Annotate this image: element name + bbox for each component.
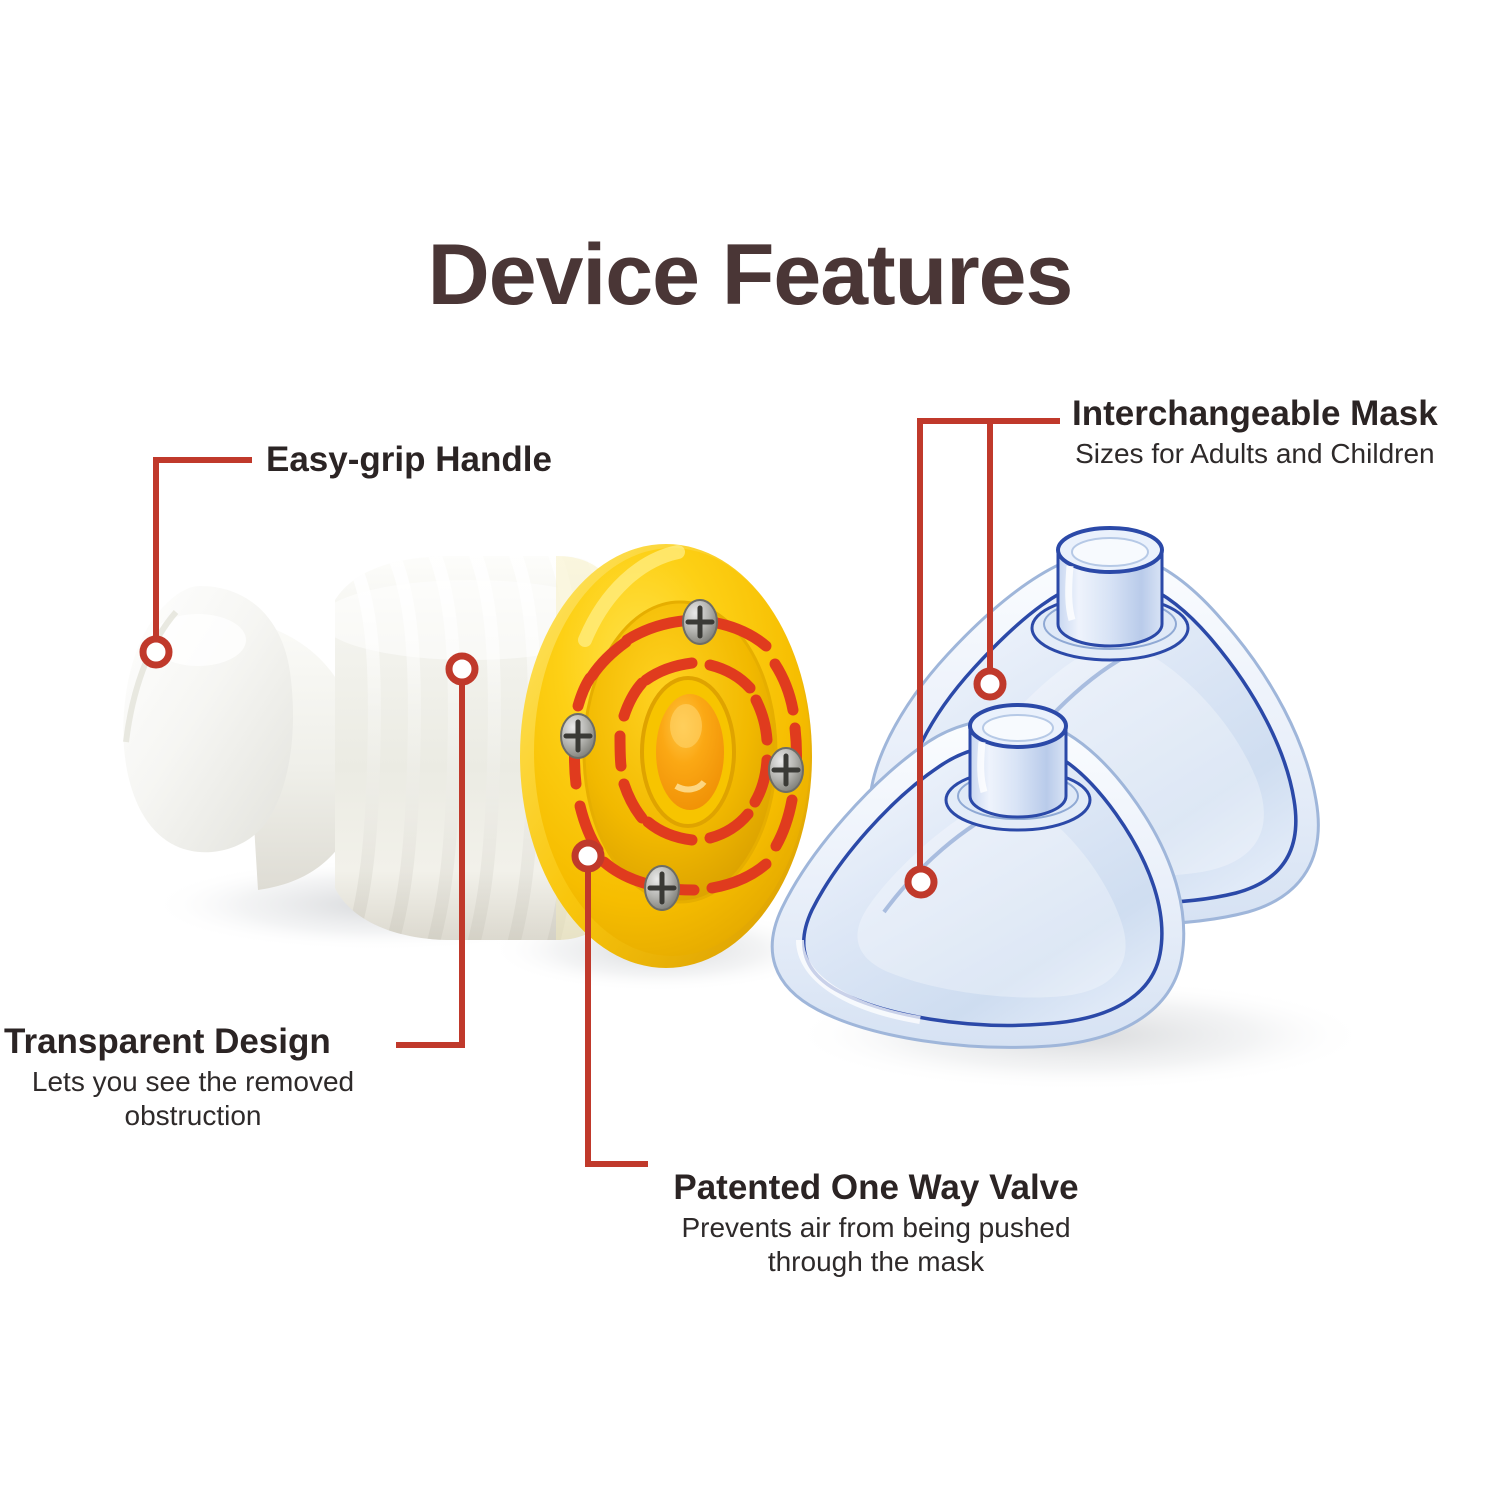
callout-title-transparent-design: Transparent Design [4,1022,382,1061]
marker-child-mask-point [908,869,934,895]
callout-title-one-way-valve: Patented One Way Valve [652,1168,1100,1207]
screw-top [683,600,717,644]
marker-interchangeable-mask [977,671,1003,697]
child-mask-port [970,705,1066,817]
callout-subtitle-one-way-valve-line1: Prevents air from being pushed [652,1211,1100,1245]
easy-grip-handle [123,586,361,890]
marker-one-way-valve [575,843,601,869]
callout-subtitle-transparent-design-line2: obstruction [4,1099,382,1133]
callout-subtitle-one-way-valve-line2: through the mask [652,1245,1100,1279]
callout-easy-grip-handle: Easy-grip Handle [266,440,552,479]
adult-mask-port [1058,528,1162,646]
callout-one-way-valve: Patented One Way Valve Prevents air from… [652,1168,1100,1280]
infographic-canvas: Device Features [0,0,1500,1500]
screw-left [561,714,595,758]
screw-right [769,748,803,792]
valve-dome-highlight [670,704,702,748]
callout-interchangeable-mask: Interchangeable Mask Sizes for Adults an… [1072,394,1438,471]
callout-subtitle-transparent-design-line1: Lets you see the removed [4,1065,382,1099]
marker-transparent-design [449,656,475,682]
callout-transparent-design: Transparent Design Lets you see the remo… [4,1022,382,1134]
callout-title-interchangeable-mask: Interchangeable Mask [1072,394,1438,433]
marker-easy-grip-handle [143,639,169,665]
callout-title-easy-grip-handle: Easy-grip Handle [266,440,552,479]
screw-bottom [645,866,679,910]
callout-subtitle-interchangeable-mask: Sizes for Adults and Children [1072,437,1438,471]
one-way-valve-face [520,544,812,968]
